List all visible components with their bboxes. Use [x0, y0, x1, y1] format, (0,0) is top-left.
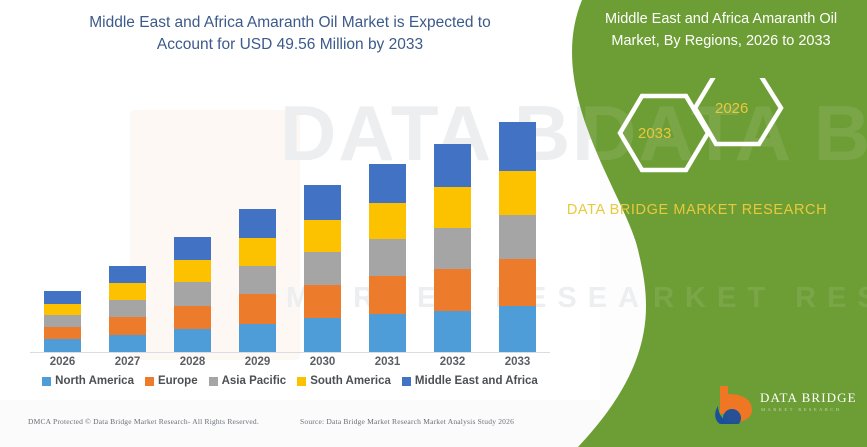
legend-label: South America: [310, 375, 391, 387]
hexagon-2026-label: 2026: [715, 100, 748, 117]
legend-swatch: [402, 377, 411, 386]
legend-item[interactable]: Middle East and Africa: [402, 375, 538, 387]
bar-segment[interactable]: [109, 266, 146, 284]
bar-segment[interactable]: [44, 339, 81, 352]
bar-column[interactable]: [99, 100, 157, 352]
chart-legend: North AmericaEuropeAsia PacificSouth Ame…: [30, 375, 550, 387]
stacked-bar[interactable]: [369, 164, 406, 352]
bar-segment[interactable]: [44, 304, 81, 316]
bar-segment[interactable]: [304, 252, 341, 285]
legend-label: Europe: [158, 375, 198, 387]
bar-segment[interactable]: [174, 282, 211, 305]
bar-segment[interactable]: [239, 266, 276, 294]
bar-segment[interactable]: [239, 324, 276, 352]
bar-segment[interactable]: [109, 283, 146, 300]
bar-column[interactable]: [164, 100, 222, 352]
logo-mark-icon: [712, 384, 758, 424]
stacked-bar[interactable]: [239, 209, 276, 352]
chart-title: Middle East and Africa Amaranth Oil Mark…: [60, 12, 520, 56]
legend-swatch: [145, 377, 154, 386]
bar-segment[interactable]: [174, 260, 211, 282]
bar-segment[interactable]: [44, 327, 81, 340]
bar-segment[interactable]: [434, 228, 471, 269]
stacked-bar[interactable]: [44, 291, 81, 352]
bar-segment[interactable]: [44, 291, 81, 304]
panel-title: Middle East and Africa Amaranth Oil Mark…: [582, 8, 860, 52]
bar-column[interactable]: [424, 100, 482, 352]
stacked-bar[interactable]: [174, 237, 211, 352]
bar-segment[interactable]: [109, 300, 146, 317]
bar-segment[interactable]: [434, 269, 471, 311]
x-axis-label: 2029: [229, 356, 287, 368]
bar-segment[interactable]: [369, 203, 406, 239]
bar-column[interactable]: [294, 100, 352, 352]
bar-segment[interactable]: [304, 185, 341, 220]
x-axis-labels: 20262027202820292030203120322033: [30, 356, 550, 368]
chart-pane: DATA BRIDGE MARKET RESEARCH Middle East …: [0, 0, 600, 447]
bars-container: [30, 100, 550, 352]
bar-column[interactable]: [34, 100, 92, 352]
legend-swatch: [209, 377, 218, 386]
bar-segment[interactable]: [44, 315, 81, 327]
bar-segment[interactable]: [369, 314, 406, 352]
panel-brand-text: DATA BRIDGE MARKET RESEARCH: [562, 198, 832, 223]
stacked-bar[interactable]: [109, 266, 146, 352]
bar-segment[interactable]: [434, 187, 471, 227]
green-panel: DATA BRIDGE MARKET RESEARCH Middle East …: [520, 0, 867, 447]
legend-label: Asia Pacific: [222, 375, 287, 387]
logo-wordmark: DATA BRIDGE: [760, 390, 857, 406]
bar-segment[interactable]: [304, 220, 341, 252]
bar-segment[interactable]: [239, 209, 276, 239]
green-watermark-line-2: MARKET RESEARCH: [586, 282, 867, 315]
data-bridge-logo: DATA BRIDGE MARKET RESEARCH: [712, 382, 862, 430]
green-panel-content: DATA BRIDGE MARKET RESEARCH Middle East …: [520, 0, 867, 447]
bar-segment[interactable]: [304, 285, 341, 319]
footer-copyright: DMCA Protected © Data Bridge Market Rese…: [28, 417, 259, 426]
bar-segment[interactable]: [174, 329, 211, 352]
bar-segment[interactable]: [369, 276, 406, 314]
bar-column[interactable]: [359, 100, 417, 352]
bar-segment[interactable]: [434, 311, 471, 352]
x-axis-label: 2032: [424, 356, 482, 368]
x-axis-label: 2030: [294, 356, 352, 368]
hexagon-shapes: [600, 78, 830, 188]
bar-segment[interactable]: [239, 294, 276, 324]
bar-segment[interactable]: [174, 237, 211, 260]
logo-tagline: MARKET RESEARCH: [761, 407, 841, 412]
bar-segment[interactable]: [434, 144, 471, 187]
bar-segment[interactable]: [174, 306, 211, 329]
x-axis-label: 2028: [164, 356, 222, 368]
hexagon-group: 2033 2026: [600, 78, 830, 188]
stacked-bar[interactable]: [304, 185, 341, 352]
bar-segment[interactable]: [369, 164, 406, 203]
bar-segment[interactable]: [369, 239, 406, 276]
x-axis-label: 2031: [359, 356, 417, 368]
legend-swatch: [42, 377, 51, 386]
legend-item[interactable]: South America: [297, 375, 391, 387]
bar-segment[interactable]: [239, 238, 276, 265]
bar-segment[interactable]: [304, 318, 341, 352]
bar-segment[interactable]: [109, 317, 146, 335]
legend-swatch: [297, 377, 306, 386]
bar-segment[interactable]: [109, 335, 146, 352]
legend-item[interactable]: North America: [42, 375, 134, 387]
footer-bar: DMCA Protected © Data Bridge Market Rese…: [0, 400, 600, 447]
legend-label: North America: [55, 375, 134, 387]
plot-area: [30, 100, 550, 353]
x-axis-label: 2026: [34, 356, 92, 368]
hexagon-2033-label: 2033: [638, 125, 671, 142]
bar-column[interactable]: [229, 100, 287, 352]
x-axis-label: 2027: [99, 356, 157, 368]
stacked-bar[interactable]: [434, 144, 471, 352]
legend-item[interactable]: Asia Pacific: [209, 375, 287, 387]
footer-source: Source: Data Bridge Market Research Mark…: [300, 417, 514, 426]
legend-item[interactable]: Europe: [145, 375, 198, 387]
x-axis-line: [30, 352, 550, 353]
infographic-root: DATA BRIDGE MARKET RESEARCH Middle East …: [0, 0, 867, 447]
